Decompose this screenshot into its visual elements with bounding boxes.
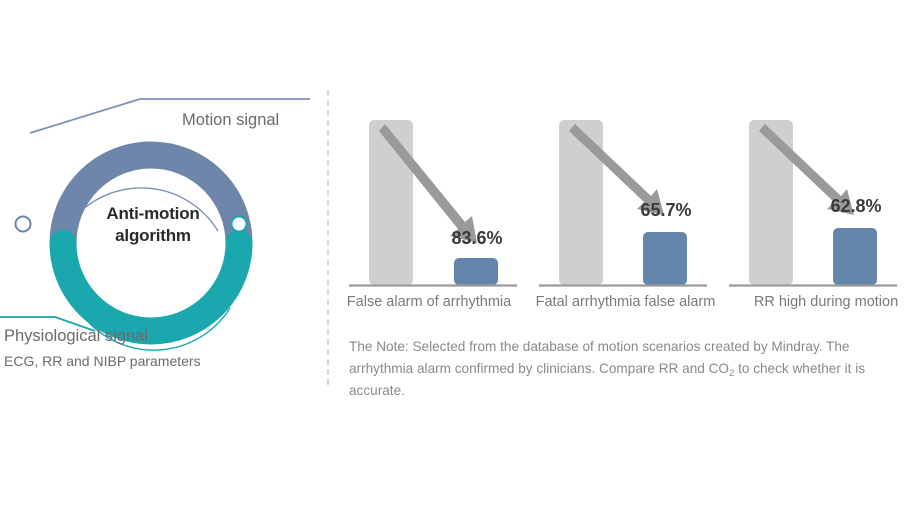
result-bar-2 <box>643 232 687 285</box>
anti-motion-diagram-panel: Anti-motion algorithm Motion signal Phys… <box>0 0 327 513</box>
category-label-row: False alarm of arrhythmia Fatal arrhythm… <box>337 294 924 318</box>
reduction-label-3: 62.8% <box>801 196 911 217</box>
donut-center-label: Anti-motion algorithm <box>78 203 228 247</box>
infographic-root: Anti-motion algorithm Motion signal Phys… <box>0 0 924 513</box>
physiological-signal-sublabel: ECG, RR and NIBP parameters <box>4 353 201 369</box>
reduction-label-2: 65.7% <box>611 200 721 221</box>
category-label-2: Fatal arrhythmia false alarm <box>523 294 728 310</box>
reduction-label-1: 83.6% <box>422 228 532 249</box>
category-label-3: RR high during motion <box>726 294 924 310</box>
donut-segment-physiological <box>63 243 239 331</box>
endpoint-marker-physiological <box>232 217 247 232</box>
motion-signal-label: Motion signal <box>182 111 279 130</box>
chart-note-subscript: 2 <box>729 368 734 379</box>
endpoint-marker-motion <box>16 217 31 232</box>
donut-center-line-2: algorithm <box>78 225 228 247</box>
result-bar-3 <box>833 228 877 285</box>
physiological-signal-label: Physiological signal <box>4 327 148 346</box>
category-label-1: False alarm of arrhythmia <box>329 294 529 310</box>
result-bar-1 <box>454 258 498 285</box>
bar-chart-panel: 83.6% 65.7% 62.8% False alarm of arrhyth… <box>327 0 924 513</box>
donut-center-line-1: Anti-motion <box>78 203 228 225</box>
chart-note: The Note: Selected from the database of … <box>349 336 885 402</box>
